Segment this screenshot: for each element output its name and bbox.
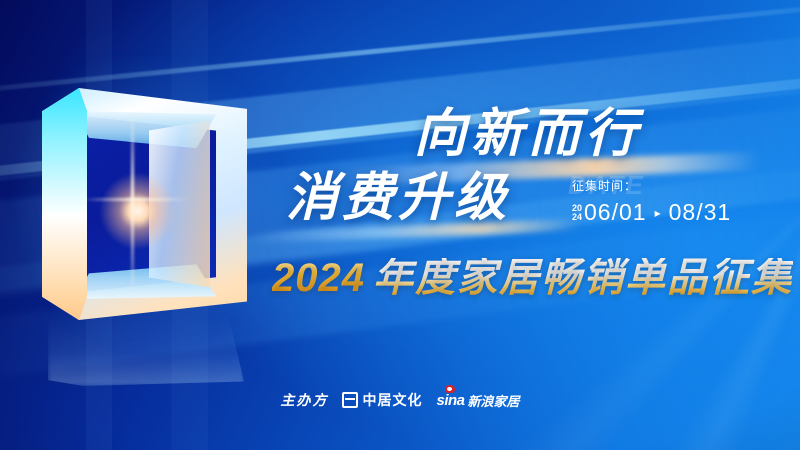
- subtitle-year: 2024: [272, 258, 365, 298]
- date-start: 06/01: [584, 199, 647, 226]
- door-reflection: [48, 312, 244, 386]
- organizer-label: 主办方: [280, 390, 328, 410]
- door-light-burst: [99, 172, 177, 250]
- date-block: DATE 征集时间： 20 24 06/01 ▸ 08/31: [572, 180, 772, 226]
- promo-banner: 向新而行 消费升级 DATE 征集时间： 20 24 06/01 ▸ 08/31…: [0, 0, 800, 450]
- date-range: 20 24 06/01 ▸ 08/31: [572, 199, 772, 226]
- date-year-bottom: 24: [572, 213, 582, 222]
- date-label: 征集时间：: [572, 180, 772, 192]
- door-left-edge: [42, 88, 87, 320]
- door-graphic: [42, 88, 247, 320]
- sponsor-zhongju: 中居文化: [342, 390, 422, 410]
- zhongju-logo-icon: [342, 392, 358, 408]
- date-end: 08/31: [669, 199, 732, 226]
- sponsor-sina: sina 新浪家居: [436, 391, 519, 410]
- subtitle: 2024 年度家居畅销单品征集: [272, 258, 793, 298]
- sina-wordmark: sina: [436, 392, 464, 409]
- star-flare-vertical-icon: [131, 102, 134, 306]
- sponsor-sina-label: 新浪家居: [468, 391, 520, 410]
- sina-eye-icon: [445, 385, 455, 393]
- footer: 主办方 中居文化 sina 新浪家居: [0, 390, 800, 410]
- headline-line-1: 向新而行: [414, 108, 642, 160]
- sina-logo-icon: sina: [436, 392, 464, 409]
- subtitle-text: 年度家居畅销单品征集: [373, 258, 793, 298]
- headline-line-2: 消费升级: [286, 172, 510, 224]
- date-arrow-icon: ▸: [655, 206, 661, 220]
- sponsor-zhongju-label: 中居文化: [362, 390, 422, 410]
- date-year: 20 24: [572, 204, 582, 222]
- star-flare-horizontal-icon: [83, 198, 190, 201]
